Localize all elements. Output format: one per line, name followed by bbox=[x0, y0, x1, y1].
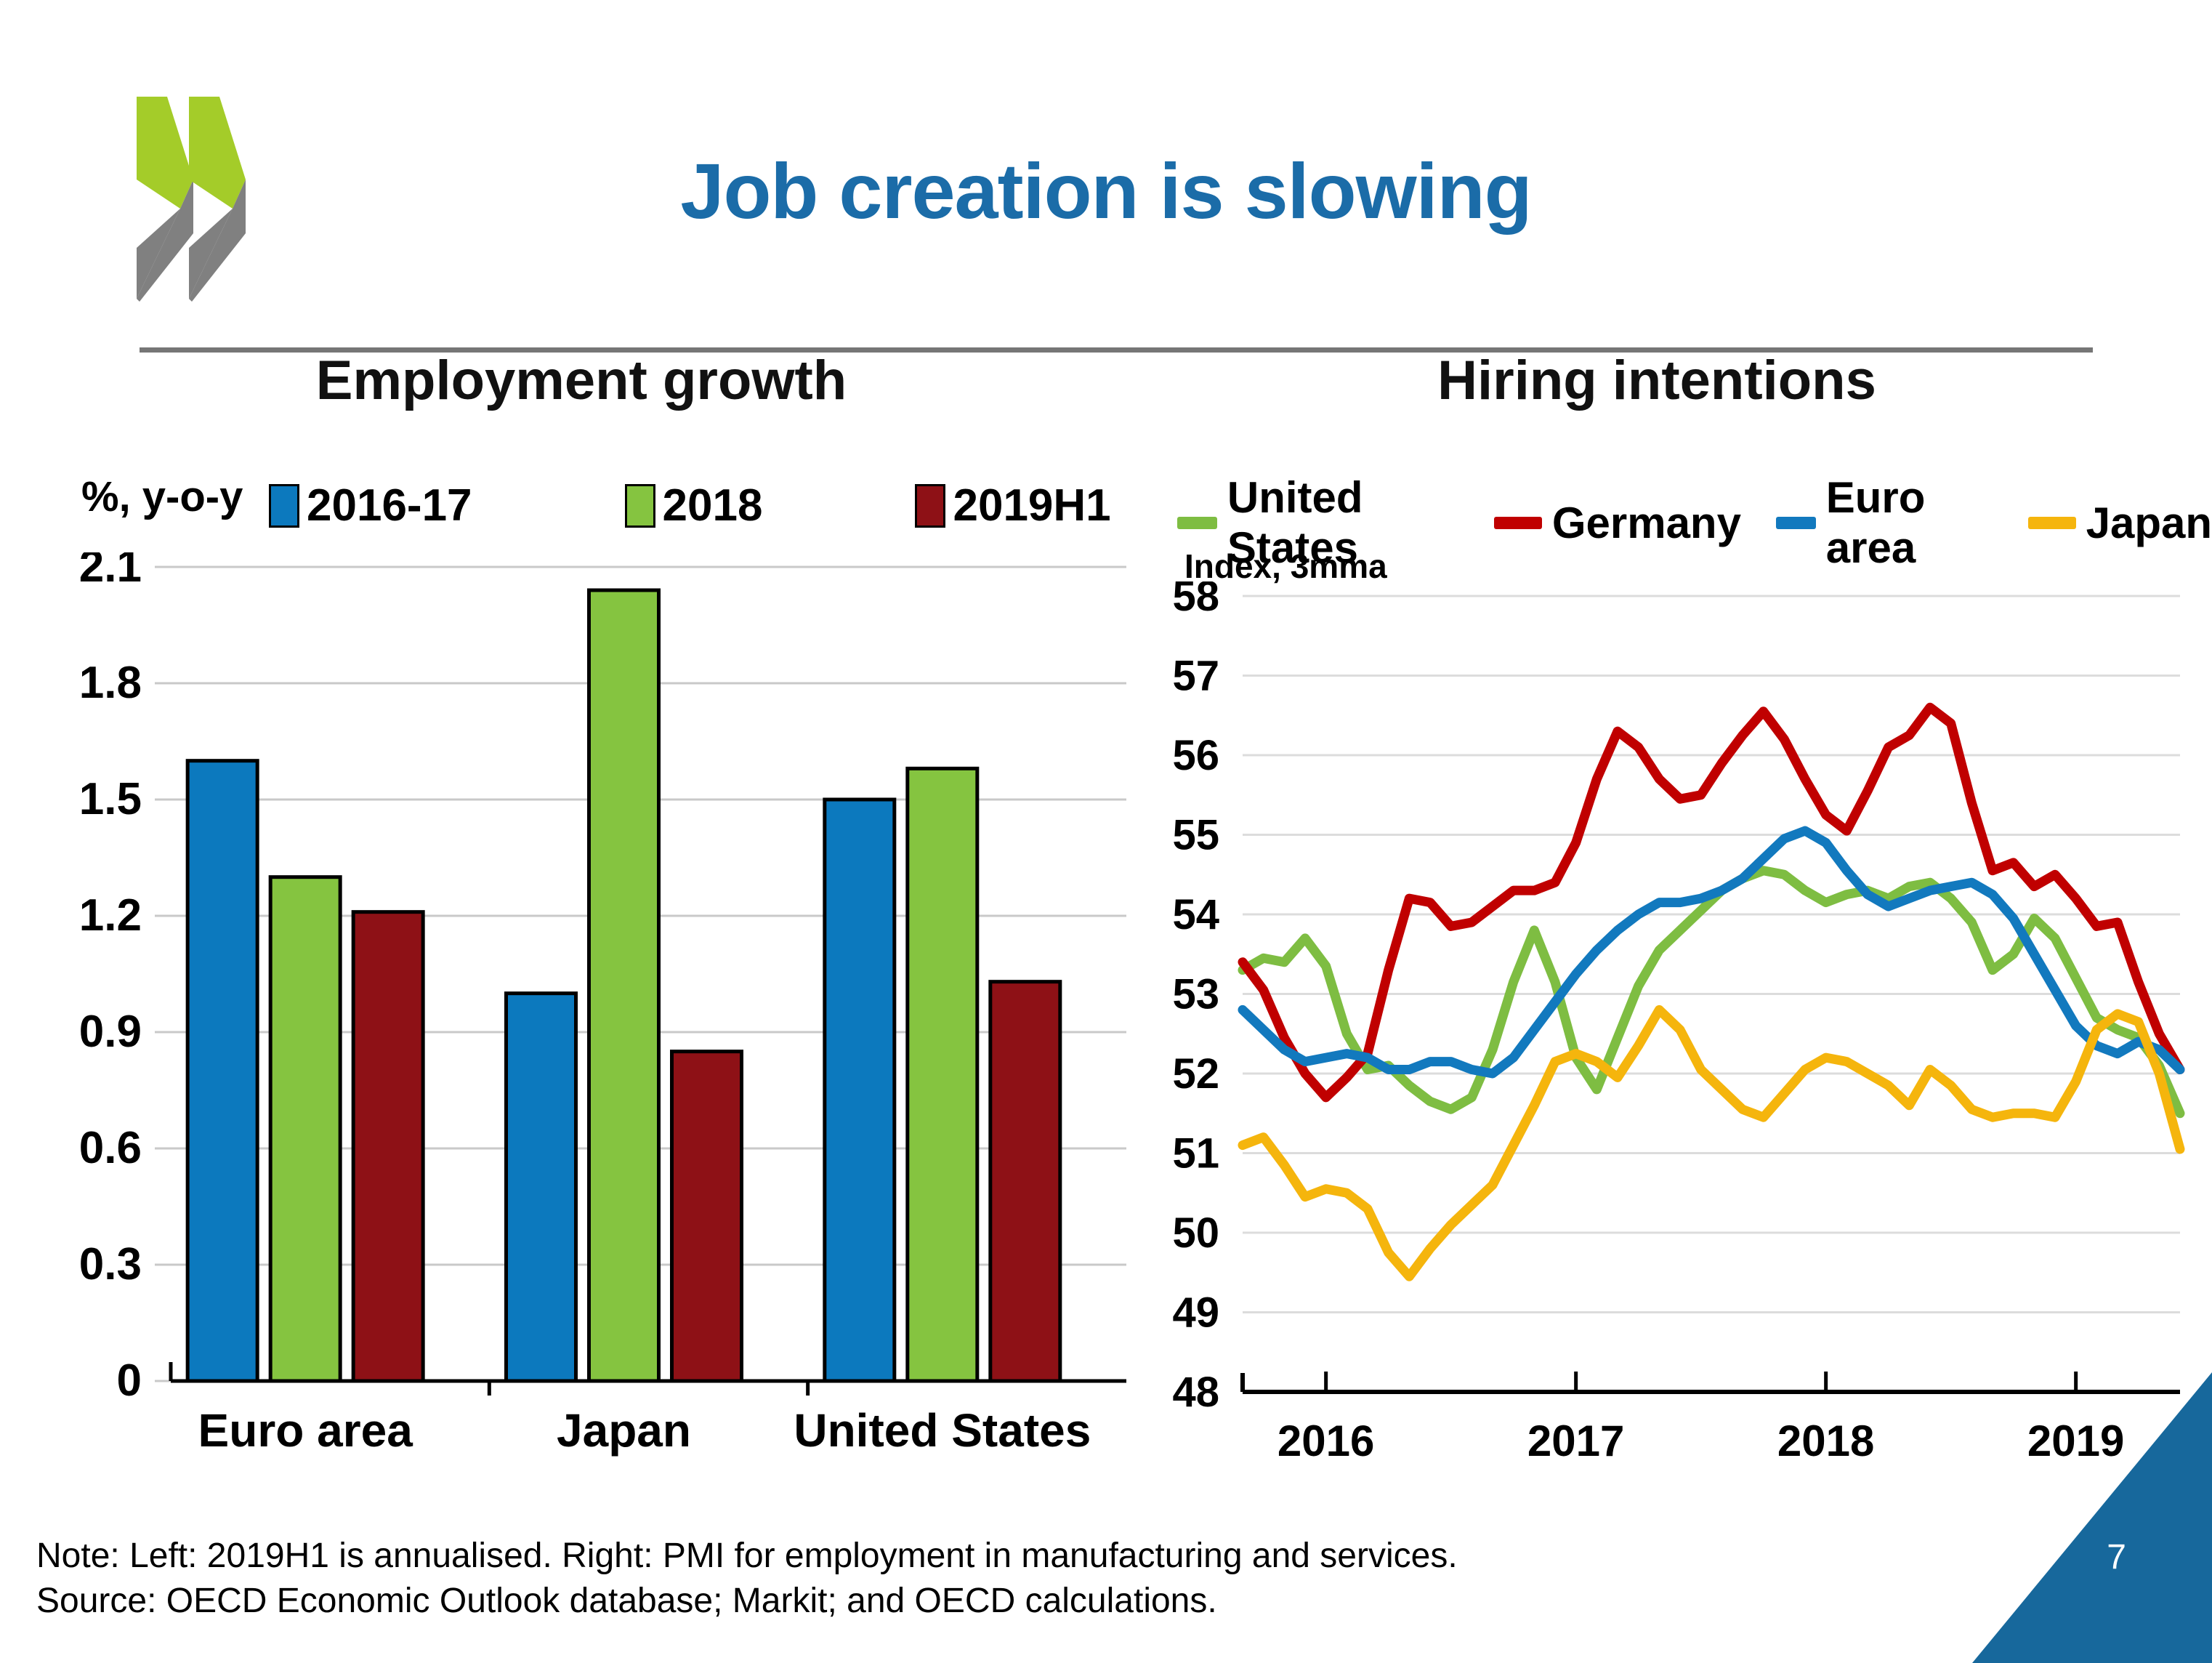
line-y-tick-label: 49 bbox=[1172, 1289, 1219, 1337]
bar-2019h1-euro-area[interactable] bbox=[353, 912, 423, 1381]
legend-label-2016-17: 2016-17 bbox=[307, 480, 472, 531]
bar-y-tick-label: 0 bbox=[117, 1356, 142, 1406]
bar-2019h1-japan[interactable] bbox=[672, 1052, 742, 1381]
legend-item-euro-area[interactable]: Euro area bbox=[1776, 472, 1993, 573]
employment-growth-bar-chart: 00.30.60.91.21.51.82.1Euro areaJapanUnit… bbox=[44, 552, 1134, 1468]
hiring-intentions-line-chart: 48495051525354555657582016201720182019 bbox=[1163, 581, 2195, 1475]
bar-y-tick-label: 1.8 bbox=[79, 658, 142, 708]
legend-dash-united-states bbox=[1177, 517, 1217, 529]
bar-y-tick-label: 1.2 bbox=[79, 890, 142, 941]
line-y-tick-label: 51 bbox=[1172, 1130, 1219, 1177]
right-chart-title: Hiring intentions bbox=[1134, 349, 2180, 412]
legend-swatch-2018 bbox=[625, 484, 655, 528]
line-y-tick-label: 50 bbox=[1172, 1209, 1219, 1257]
legend-dash-japan bbox=[2028, 517, 2076, 529]
bar-2018-euro-area[interactable] bbox=[270, 877, 340, 1381]
legend-item-germany[interactable]: Germany bbox=[1494, 498, 1741, 548]
legend-label-2018: 2018 bbox=[663, 480, 763, 531]
bar-chart-svg: 00.30.60.91.21.51.82.1Euro areaJapanUnit… bbox=[44, 552, 1134, 1468]
bar-2016-17-euro-area[interactable] bbox=[187, 761, 257, 1381]
bar-2018-japan[interactable] bbox=[589, 590, 659, 1381]
line-x-tick-label: 2016 bbox=[1277, 1417, 1374, 1465]
footer-source: Source: OECD Economic Outlook database; … bbox=[36, 1579, 1635, 1624]
bar-y-tick-label: 1.5 bbox=[79, 774, 142, 824]
left-chart-title: Employment growth bbox=[44, 349, 1119, 412]
legend-item-japan[interactable]: Japan bbox=[2028, 498, 2212, 548]
bar-2019h1-united-states[interactable] bbox=[990, 982, 1060, 1381]
bar-2016-17-japan[interactable] bbox=[506, 994, 576, 1381]
footer-note: Note: Left: 2019H1 is annualised. Right:… bbox=[36, 1534, 1635, 1579]
bar-y-tick-label: 0.9 bbox=[79, 1007, 142, 1057]
bar-category-label: Japan bbox=[557, 1404, 691, 1457]
line-chart-svg: 48495051525354555657582016201720182019 bbox=[1163, 581, 2195, 1475]
line-y-tick-label: 56 bbox=[1172, 732, 1219, 779]
bar-2016-17-united-states[interactable] bbox=[825, 800, 895, 1381]
line-y-tick-label: 52 bbox=[1172, 1050, 1219, 1098]
page-title: Job creation is slowing bbox=[0, 145, 2212, 236]
legend-swatch-2019h1 bbox=[915, 484, 945, 528]
corner-triangle-svg bbox=[1972, 1372, 2212, 1663]
line-y-tick-label: 53 bbox=[1172, 971, 1219, 1018]
legend-item-2016-17[interactable]: 2016-17 bbox=[269, 480, 472, 531]
bar-y-tick-label: 0.3 bbox=[79, 1239, 142, 1289]
line-y-tick-label: 55 bbox=[1172, 812, 1219, 859]
legend-label-germany: Germany bbox=[1552, 498, 1741, 548]
legend-label-euro-area: Euro area bbox=[1826, 472, 1993, 573]
legend-dash-euro-area bbox=[1776, 517, 1816, 529]
left-chart-legend: 2016-17 2018 2019H1 bbox=[269, 480, 1111, 531]
bar-category-label: Euro area bbox=[198, 1404, 413, 1457]
line-series-japan[interactable] bbox=[1243, 1010, 2180, 1276]
page-number: 7 bbox=[2107, 1537, 2126, 1577]
line-x-tick-label: 2018 bbox=[1777, 1417, 1874, 1465]
line-y-tick-label: 57 bbox=[1172, 653, 1219, 700]
legend-dash-germany bbox=[1494, 517, 1542, 529]
legend-item-united-states[interactable]: United States bbox=[1177, 472, 1459, 573]
bar-y-tick-label: 2.1 bbox=[79, 552, 142, 592]
legend-label-japan: Japan bbox=[2086, 498, 2212, 548]
line-y-tick-label: 54 bbox=[1172, 891, 1219, 938]
bar-y-tick-label: 0.6 bbox=[79, 1123, 142, 1173]
corner-triangle bbox=[1972, 1372, 2212, 1663]
corner-decoration bbox=[1972, 1372, 2212, 1663]
line-series-euro-area[interactable] bbox=[1243, 831, 2180, 1074]
left-axis-unit-label: %, y-o-y bbox=[81, 472, 243, 521]
line-y-tick-label: 48 bbox=[1172, 1369, 1219, 1416]
bar-2018-united-states[interactable] bbox=[908, 768, 977, 1381]
bar-category-label: United States bbox=[794, 1404, 1091, 1457]
footer-notes: Note: Left: 2019H1 is annualised. Right:… bbox=[36, 1534, 1635, 1624]
legend-item-2019h1[interactable]: 2019H1 bbox=[915, 480, 1110, 531]
legend-label-2019h1: 2019H1 bbox=[953, 480, 1110, 531]
line-y-tick-label: 58 bbox=[1172, 581, 1219, 620]
legend-item-2018[interactable]: 2018 bbox=[625, 480, 763, 531]
legend-label-united-states: United States bbox=[1227, 472, 1459, 573]
line-x-tick-label: 2017 bbox=[1527, 1417, 1624, 1465]
right-chart-legend: United States Germany Euro area Japan bbox=[1177, 472, 2212, 573]
legend-swatch-2016-17 bbox=[269, 484, 299, 528]
